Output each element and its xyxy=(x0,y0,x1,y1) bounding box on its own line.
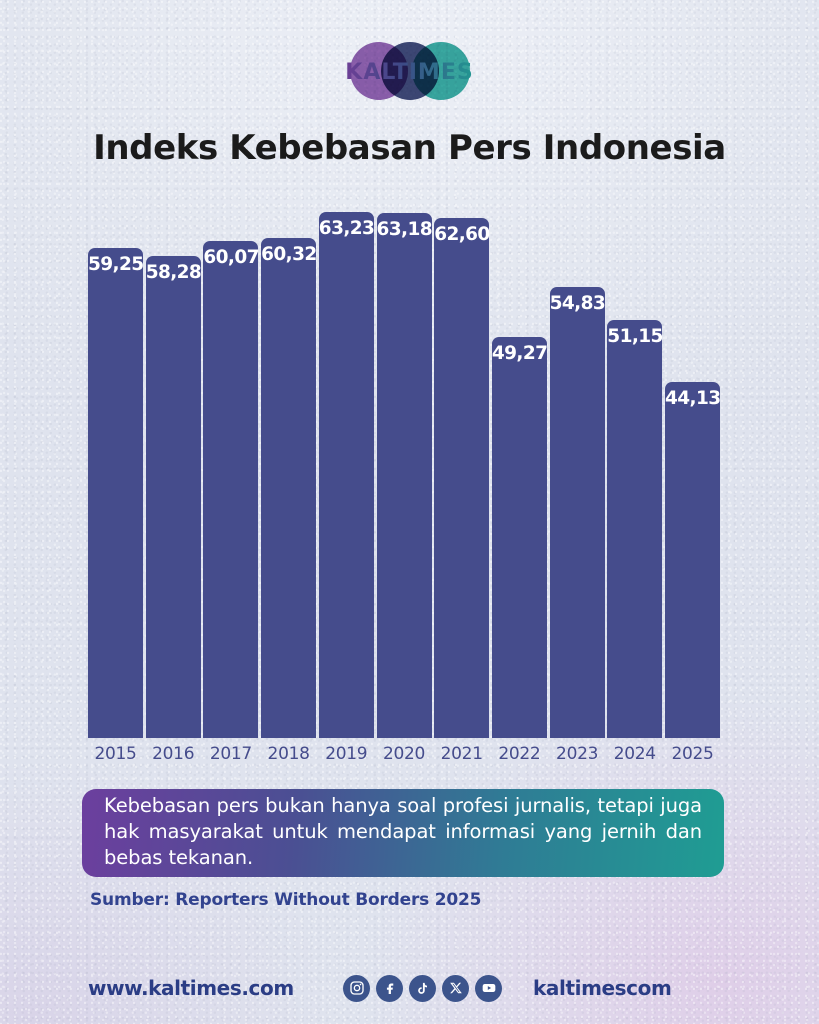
axis-tick-2023: 2023 xyxy=(550,744,605,764)
bar-2018[interactable]: 60,32 xyxy=(261,238,316,738)
axis-tick-2016: 2016 xyxy=(146,744,201,764)
bar-2016[interactable]: 58,28 xyxy=(146,256,201,738)
axis-tick-2022: 2022 xyxy=(492,744,547,764)
quote-banner: Kebebasan pers bukan hanya soal profesi … xyxy=(82,789,724,877)
x-twitter-icon[interactable] xyxy=(442,975,469,1002)
bar-value-label: 51,15 xyxy=(607,326,662,347)
social-links xyxy=(343,975,502,1002)
bar-2023[interactable]: 54,83 xyxy=(550,287,605,738)
bar-column: 60,07 xyxy=(203,241,258,739)
website-url[interactable]: www.kaltimes.com xyxy=(88,976,294,1000)
axis-tick-2021: 2021 xyxy=(434,744,489,764)
bar-value-label: 63,23 xyxy=(319,218,374,239)
bar-value-label: 44,13 xyxy=(665,388,720,409)
bar-column: 63,18 xyxy=(377,213,432,738)
bar-column: 49,27 xyxy=(492,337,547,739)
axis-tick-2019: 2019 xyxy=(319,744,374,764)
brand-logo: KALTIMES xyxy=(0,40,819,102)
bar-column: 58,28 xyxy=(146,256,201,738)
bar-2024[interactable]: 51,15 xyxy=(607,320,662,738)
axis-tick-2015: 2015 xyxy=(88,744,143,764)
axis-tick-2020: 2020 xyxy=(377,744,432,764)
facebook-icon[interactable] xyxy=(376,975,403,1002)
bar-2021[interactable]: 62,60 xyxy=(434,218,489,738)
tiktok-icon[interactable] xyxy=(409,975,436,1002)
bar-value-label: 60,32 xyxy=(261,244,316,265)
bar-column: 63,23 xyxy=(319,212,374,738)
bar-column: 44,13 xyxy=(665,382,720,738)
footer: www.kaltimes.com xyxy=(0,966,819,1010)
bar-2019[interactable]: 63,23 xyxy=(319,212,374,738)
bar-2017[interactable]: 60,07 xyxy=(203,241,258,739)
instagram-icon[interactable] xyxy=(343,975,370,1002)
chart-x-axis: 2015201620172018201920202021202220232024… xyxy=(88,744,720,774)
bar-chart: 59,2558,2860,0760,3263,2363,1862,6049,27… xyxy=(88,170,720,738)
bar-2020[interactable]: 63,18 xyxy=(377,213,432,738)
bar-column: 62,60 xyxy=(434,218,489,738)
infographic-poster: KALTIMES Indeks Kebebasan Pers Indonesia… xyxy=(0,0,819,1024)
axis-tick-2017: 2017 xyxy=(203,744,258,764)
axis-tick-2024: 2024 xyxy=(607,744,662,764)
quote-text: Kebebasan pers bukan hanya soal profesi … xyxy=(104,793,702,871)
axis-tick-2025: 2025 xyxy=(665,744,720,764)
bar-value-label: 54,83 xyxy=(550,293,605,314)
bar-value-label: 58,28 xyxy=(146,262,201,283)
axis-tick-2018: 2018 xyxy=(261,744,316,764)
bar-value-label: 60,07 xyxy=(203,247,258,268)
youtube-icon[interactable] xyxy=(475,975,502,1002)
bar-column: 60,32 xyxy=(261,238,316,738)
page-title: Indeks Kebebasan Pers Indonesia xyxy=(0,128,819,168)
bar-column: 59,25 xyxy=(88,248,143,738)
bar-value-label: 63,18 xyxy=(377,219,432,240)
bar-value-label: 62,60 xyxy=(434,224,489,245)
bar-2015[interactable]: 59,25 xyxy=(88,248,143,738)
bar-2022[interactable]: 49,27 xyxy=(492,337,547,739)
logo-mark: KALTIMES xyxy=(350,40,470,102)
bar-column: 51,15 xyxy=(607,320,662,738)
bar-column: 54,83 xyxy=(550,287,605,738)
bar-value-label: 49,27 xyxy=(492,343,547,364)
social-handle[interactable]: kaltimescom xyxy=(533,976,671,1000)
source-credit: Sumber: Reporters Without Borders 2025 xyxy=(90,890,481,910)
bar-2025[interactable]: 44,13 xyxy=(665,382,720,738)
bar-value-label: 59,25 xyxy=(88,254,143,275)
logo-wordmark: KALTIMES xyxy=(344,60,476,85)
